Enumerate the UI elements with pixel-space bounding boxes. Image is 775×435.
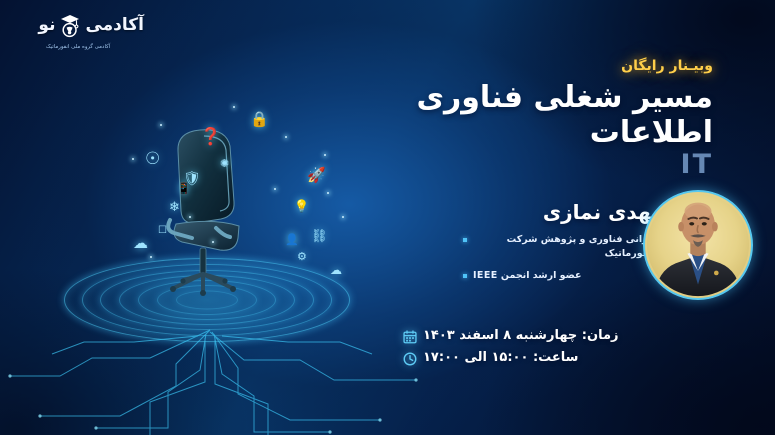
lock-icon: 🔒 — [250, 112, 269, 127]
schedule-time-text: ساعت: ۱۵:۰۰ الی ۱۷:۰۰ — [423, 350, 578, 365]
spark-dot — [160, 124, 162, 126]
brand-logo-word-left: نو — [38, 17, 55, 34]
spark-dot — [324, 154, 326, 156]
brand-tagline: آکادمی گروه ملی انفورماتیک — [14, 44, 144, 50]
chip-icon: ⛓ — [311, 230, 328, 243]
graduation-cap-icon — [57, 10, 83, 40]
hero-illustration: 🔒 ❓ ☉ 🛡 ☁ 🚀 ❄ 📱 ⛓ 👤 💡 ☁ ⚙ ✺ ☐ — [42, 96, 372, 356]
schedule-date-text: زمان: چهارشنبه ۸ اسفند ۱۴۰۳ — [423, 328, 619, 343]
compass-icon: ✺ — [220, 158, 229, 169]
kicker-label: وبیـنار رایگان — [373, 58, 713, 74]
brand-logo-row: آکادمی نو — [14, 8, 144, 42]
schedule-row-time: ساعت: ۱۵:۰۰ الی ۱۷:۰۰ — [403, 350, 713, 365]
cloud-upload-icon: ☁ — [330, 264, 342, 276]
spark-dot — [233, 106, 235, 108]
speaker-portrait — [645, 192, 751, 298]
calendar-icon — [403, 329, 417, 343]
user-icon: 👤 — [285, 234, 299, 245]
page-subtitle: IT — [373, 150, 713, 180]
mobile-icon: 📱 — [177, 183, 191, 194]
clock-icon — [403, 351, 417, 365]
spark-dot — [132, 158, 134, 160]
schedule-block: زمان: چهارشنبه ۸ اسفند ۱۴۰۳ ساعت: ۱۵:۰۰ … — [403, 328, 713, 372]
webinar-banner: آکادمی نو آکادمی گروه ملی انفورماتیک — [0, 0, 775, 435]
square-bullet-icon — [463, 274, 467, 278]
gear-icon: ⚙ — [297, 251, 307, 262]
page-title: مسیر شغلی فناوری اطلاعات — [373, 80, 713, 151]
rocket-icon: 🚀 — [307, 168, 326, 183]
circuit-traces — [0, 324, 420, 435]
brand-logo-word-right: آکادمی — [85, 17, 144, 34]
snowflake-icon: ❄ — [169, 201, 180, 214]
cloud-icon: ☁ — [133, 236, 148, 251]
square-bullet-icon — [463, 238, 467, 242]
avatar — [643, 190, 753, 300]
spark-dot — [150, 256, 152, 258]
schedule-row-date: زمان: چهارشنبه ۸ اسفند ۱۴۰۳ — [403, 328, 713, 343]
spark-dot — [342, 216, 344, 218]
spark-dot — [285, 136, 287, 138]
bulb-icon: 💡 — [294, 200, 309, 212]
spark-dot — [327, 192, 329, 194]
speaker-credential-text: عضو ارشد انجمن IEEE — [473, 269, 581, 283]
spark-dot — [274, 188, 276, 190]
brand-logo[interactable]: آکادمی نو آکادمی گروه ملی انفورماتیک — [14, 8, 144, 60]
fingerprint-icon: ☉ — [145, 151, 160, 168]
speaker-avatar — [643, 190, 753, 300]
spark-dot — [189, 216, 191, 218]
hero-text: وبیـنار رایگان مسیر شغلی فناوری اطلاعات … — [373, 58, 713, 179]
spark-dot — [212, 241, 214, 243]
question-mark-icon: ❓ — [200, 129, 221, 146]
mail-icon: ☐ — [158, 226, 167, 236]
